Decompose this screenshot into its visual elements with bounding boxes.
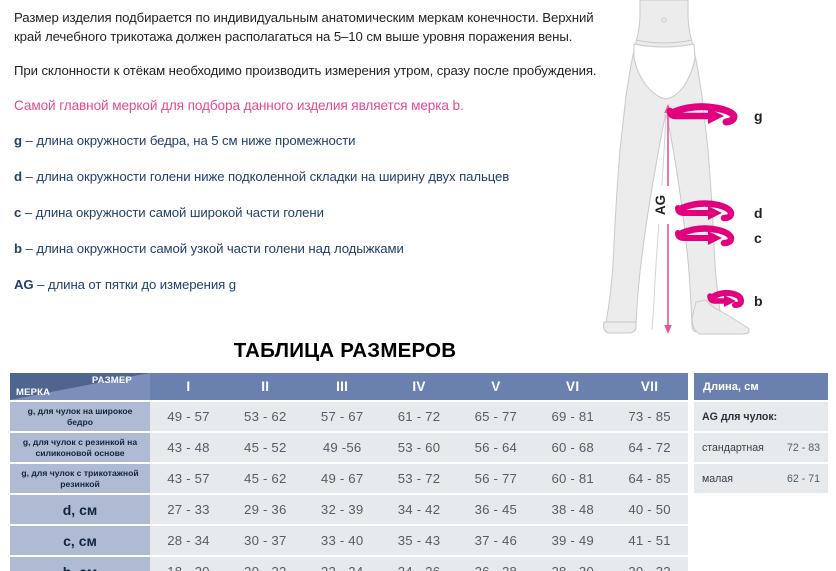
corner-col-label: РАЗМЕР — [92, 375, 132, 386]
table-cell: 56 - 64 — [457, 433, 534, 462]
table-cell: 45 - 62 — [227, 464, 304, 493]
table-cell: 28 - 34 — [150, 526, 227, 555]
table-cell: 65 - 77 — [457, 402, 534, 431]
definition-dash-d: – — [26, 169, 33, 184]
table-column-headers: I II III IV V VI VII — [150, 373, 688, 400]
table-cell: 22 - 24 — [304, 557, 381, 571]
table-cell: 27 - 33 — [150, 495, 227, 524]
table-cell: 56 - 77 — [457, 464, 534, 493]
table-cell: 18 - 20 — [150, 557, 227, 571]
row-values: 49 - 57 53 - 62 57 - 67 61 - 72 65 - 77 … — [150, 402, 688, 431]
table-cell: 43 - 48 — [150, 433, 227, 462]
size-table: МЕРКА РАЗМЕР I II III IV V VI VII g, для… — [10, 373, 688, 571]
table-cell: 41 - 51 — [611, 526, 688, 555]
row-label: b, см — [10, 557, 150, 571]
table-cell: 26 - 28 — [457, 557, 534, 571]
definition-text-b: длина окружности самой узкой части голен… — [36, 241, 403, 256]
measurement-definitions-list: g – длина окружности бедра, на 5 см ниже… — [14, 132, 614, 293]
row-values: 43 - 48 45 - 52 49 -56 53 - 60 56 - 64 6… — [150, 433, 688, 462]
table-cell: 69 - 81 — [534, 402, 611, 431]
definition-key-d: d — [14, 169, 22, 184]
table-cell: 30 - 32 — [611, 557, 688, 571]
table-cell: 64 - 72 — [611, 433, 688, 462]
table-row: g, для чулок на широкое бедро 49 - 57 53… — [10, 402, 688, 431]
table-cell: 38 - 48 — [534, 495, 611, 524]
table-cell: 49 - 67 — [304, 464, 381, 493]
row-label: d, см — [10, 495, 150, 524]
side-panel-row: стандартная 72 - 83 — [694, 433, 828, 462]
table-cell: 29 - 36 — [227, 495, 304, 524]
side-row-label: AG для чулок: — [702, 411, 820, 423]
figure-label-b: b — [754, 293, 763, 309]
table-cell: 49 - 57 — [150, 402, 227, 431]
definition-c: c – длина окружности самой широкой части… — [14, 204, 614, 221]
table-corner-cell: МЕРКА РАЗМЕР — [10, 373, 150, 400]
side-row-value: 62 - 71 — [787, 473, 820, 485]
definition-key-c: c — [14, 205, 21, 220]
table-cell: 53 - 72 — [381, 464, 458, 493]
table-cell: 24 - 26 — [381, 557, 458, 571]
table-cell: 33 - 40 — [304, 526, 381, 555]
definition-key-b: b — [14, 241, 22, 256]
table-cell: 35 - 43 — [381, 526, 458, 555]
table-row: d, см 27 - 33 29 - 36 32 - 39 34 - 42 36… — [10, 495, 688, 524]
table-cell: 32 - 39 — [304, 495, 381, 524]
row-values: 28 - 34 30 - 37 33 - 40 35 - 43 37 - 46 … — [150, 526, 688, 555]
row-values: 18 - 20 20 - 22 22 - 24 24 - 26 26 - 28 … — [150, 557, 688, 571]
side-panel-row: AG для чулок: — [694, 402, 828, 431]
intro-text-column: Размер изделия подбирается по индивидуал… — [14, 8, 614, 312]
definition-b: b – длина окружности самой узкой части г… — [14, 240, 614, 257]
intro-paragraph-1: Размер изделия подбирается по индивидуал… — [14, 8, 614, 47]
figure-label-g: g — [754, 108, 763, 124]
side-panel-header: Длина, см — [694, 373, 828, 400]
row-label: g, для чулок с трикотажной резинкой — [10, 464, 150, 493]
side-panel-row: малая 62 - 71 — [694, 464, 828, 493]
definition-dash-ag: – — [37, 277, 44, 292]
table-row: g, для чулок с трикотажной резинкой 43 -… — [10, 464, 688, 493]
definition-text-ag: длина от пятки до измерения g — [48, 277, 236, 292]
table-cell: 61 - 72 — [381, 402, 458, 431]
column-header-6: VI — [534, 373, 611, 400]
definition-text-g: длина окружности бедра, на 5 см ниже про… — [36, 133, 355, 148]
table-row: b, см 18 - 20 20 - 22 22 - 24 24 - 26 26… — [10, 557, 688, 571]
definition-text-c: длина окружности самой широкой части гол… — [36, 205, 324, 220]
table-header-row: МЕРКА РАЗМЕР I II III IV V VI VII — [10, 373, 688, 400]
table-cell: 60 - 81 — [534, 464, 611, 493]
row-label: c, см — [10, 526, 150, 555]
table-cell: 40 - 50 — [611, 495, 688, 524]
figure-label-c: c — [754, 230, 762, 246]
definition-g: g – длина окружности бедра, на 5 см ниже… — [14, 132, 614, 149]
table-cell: 64 - 85 — [611, 464, 688, 493]
definition-key-g: g — [14, 133, 22, 148]
length-side-panel: Длина, см AG для чулок: стандартная 72 -… — [694, 373, 828, 493]
column-header-4: IV — [381, 373, 458, 400]
side-row-label: стандартная — [702, 442, 787, 454]
table-cell: 39 - 49 — [534, 526, 611, 555]
table-cell: 53 - 60 — [381, 433, 458, 462]
definition-dash-b: – — [26, 241, 33, 256]
table-title: ТАБЛИЦА РАЗМЕРОВ — [0, 339, 690, 363]
definition-dash-c: – — [25, 205, 32, 220]
column-header-5: V — [457, 373, 534, 400]
ag-label: AG — [653, 195, 668, 215]
anatomy-figure: AG g d — [596, 0, 836, 345]
table-cell: 43 - 57 — [150, 464, 227, 493]
table-cell: 45 - 52 — [227, 433, 304, 462]
body-silhouette — [604, 0, 750, 334]
row-label: g, для чулок с резинкой на силиконовой о… — [10, 433, 150, 462]
definition-key-ag: AG — [14, 277, 34, 292]
table-cell: 49 -56 — [304, 433, 381, 462]
definition-text-d: длина окружности голени ниже подколенной… — [36, 169, 509, 184]
column-header-1: I — [150, 373, 227, 400]
table-cell: 53 - 62 — [227, 402, 304, 431]
row-label: g, для чулок на широкое бедро — [10, 402, 150, 431]
side-row-value: 72 - 83 — [787, 442, 820, 454]
column-header-2: II — [227, 373, 304, 400]
table-row: g, для чулок с резинкой на силиконовой о… — [10, 433, 688, 462]
table-cell: 30 - 37 — [227, 526, 304, 555]
table-cell: 28 - 30 — [534, 557, 611, 571]
column-header-7: VII — [611, 373, 688, 400]
table-row: c, см 28 - 34 30 - 37 33 - 40 35 - 43 37… — [10, 526, 688, 555]
table-cell: 20 - 22 — [227, 557, 304, 571]
column-header-3: III — [304, 373, 381, 400]
size-chart-page: Размер изделия подбирается по индивидуал… — [0, 0, 836, 571]
table-cell: 37 - 46 — [457, 526, 534, 555]
table-cell: 60 - 68 — [534, 433, 611, 462]
table-cell: 73 - 85 — [611, 402, 688, 431]
intro-paragraph-2: При склонности к отёкам необходимо произ… — [14, 61, 614, 80]
definition-ag: AG – длина от пятки до измерения g — [14, 276, 614, 293]
highlight-note: Самой главной меркой для подбора данного… — [14, 96, 614, 115]
row-values: 43 - 57 45 - 62 49 - 67 53 - 72 56 - 77 … — [150, 464, 688, 493]
figure-label-d: d — [754, 205, 763, 221]
table-cell: 36 - 45 — [457, 495, 534, 524]
row-values: 27 - 33 29 - 36 32 - 39 34 - 42 36 - 45 … — [150, 495, 688, 524]
table-cell: 34 - 42 — [381, 495, 458, 524]
side-row-label: малая — [702, 473, 787, 485]
definition-d: d – длина окружности голени ниже подколе… — [14, 168, 614, 185]
corner-row-label: МЕРКА — [16, 387, 50, 398]
definition-dash-g: – — [26, 133, 33, 148]
table-cell: 57 - 67 — [304, 402, 381, 431]
